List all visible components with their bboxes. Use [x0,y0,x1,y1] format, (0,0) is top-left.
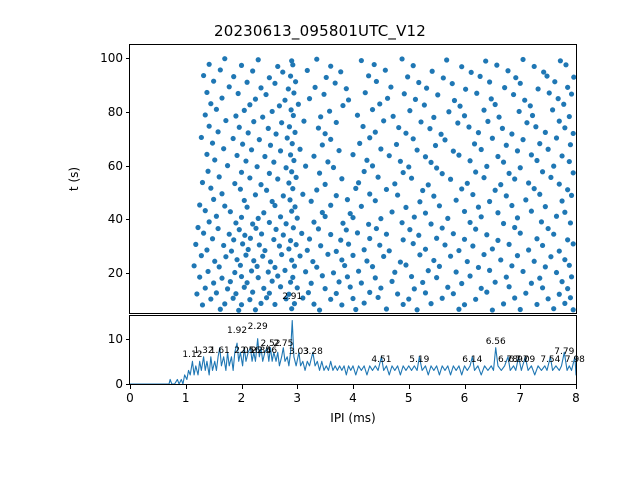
scatter-point [291,158,296,163]
scatter-point [385,96,390,101]
scatter-point [370,107,375,112]
scatter-point [367,191,372,196]
scatter-point [239,274,244,279]
scatter-point [509,131,514,136]
scatter-point [562,210,567,215]
peak-annotation-label: 5.19 [409,355,429,365]
scatter-point [324,75,329,80]
scatter-point [339,176,344,181]
scatter-point [423,247,428,252]
scatter-point [557,248,562,253]
scatter-point [571,131,576,136]
scatter-point [239,170,244,175]
scatter-point [364,158,369,163]
scatter-point [215,226,220,231]
scatter-point [359,58,364,63]
x-tick-label: 4 [349,391,357,405]
scatter-point [484,290,489,295]
scatter-point [433,143,438,148]
scatter-point [440,296,445,301]
scatter-point [207,62,212,67]
scatter-point [289,258,294,263]
scatter-point [243,253,248,258]
scatter-point [261,286,266,291]
scatter-point [550,107,555,112]
scatter-point [262,248,267,253]
scatter-point [422,102,427,107]
scatter-point [348,284,353,289]
scatter-point [356,269,361,274]
scatter-point [459,64,464,69]
scatter-point [366,222,371,227]
scatter-point [557,292,562,297]
scatter-point [411,63,416,68]
scatter-point [373,198,378,203]
scatter-point [247,102,252,107]
scatter-point [222,301,227,306]
scatter-point [260,254,265,259]
scatter-point [487,79,492,84]
scatter-point [204,90,209,95]
scatter-point [279,120,284,125]
x-tick-label: 8 [572,391,580,405]
scatter-point [539,219,544,224]
scatter-point [328,297,333,302]
scatter-point [279,252,284,257]
scatter-point [200,302,205,307]
x-tick-label: 2 [238,391,246,405]
scatter-point [237,125,242,130]
scatter-point [207,124,212,129]
scatter-point [219,276,224,281]
scatter-point [473,227,478,232]
scatter-point [309,281,314,286]
scatter-point [392,270,397,275]
scatter-point [211,79,216,84]
scatter-plot-area [130,45,576,313]
scatter-point [401,237,406,242]
scatter-point [320,210,325,215]
x-tick-label: 6 [461,391,469,405]
scatter-point [238,263,243,268]
scatter-point [275,176,280,181]
scatter-point [431,115,436,120]
scatter-point [389,279,394,284]
scatter-point [233,291,238,296]
scatter-point [534,302,539,307]
scatter-point [288,238,293,243]
scatter-point [239,302,244,307]
scatter-point [548,254,553,259]
scatter-point [540,285,545,290]
scatter-point [483,58,488,63]
scatter-point [423,210,428,215]
scatter-point [567,159,572,164]
scatter-point [402,91,407,96]
scatter-point [346,242,351,247]
scatter-point [232,270,237,275]
scatter-point [445,216,450,221]
scatter-point [211,197,216,202]
scatter-point [257,242,262,247]
scatter-point [201,73,206,78]
scatter-point [451,231,456,236]
scatter-point [236,308,241,313]
scatter-point [451,291,456,296]
scatter-point [331,270,336,275]
scatter-point [344,227,349,232]
scatter-point [537,276,542,281]
scatter-point [466,124,471,129]
scatter-point [219,95,224,100]
scatter-point [214,107,219,112]
y-tick-mark [126,219,130,220]
scatter-point [272,81,277,86]
scatter-point [444,57,449,62]
scatter-point [253,226,258,231]
scatter-point [571,307,576,312]
scatter-point [407,227,412,232]
scatter-point [517,109,522,114]
scatter-point [377,101,382,106]
scatter-point [355,230,360,235]
scatter-point [437,203,442,208]
scatter-point [479,286,484,291]
scatter-point [219,191,224,196]
scatter-point [409,274,414,279]
scatter-point [440,171,445,176]
hist-y-tick-mark [126,339,130,340]
scatter-point [272,265,277,270]
scatter-point [320,142,325,147]
scatter-point [401,302,406,307]
scatter-point [250,290,255,295]
scatter-point [289,169,294,174]
scatter-point [467,158,472,163]
scatter-point [292,204,297,209]
scatter-point [387,153,392,158]
peak-annotation-label: 4.51 [371,355,391,365]
scatter-point [569,193,574,198]
scatter-point [272,302,277,307]
scatter-point [518,307,523,312]
x-tick-mark [576,385,577,389]
y-tick-mark [126,58,130,59]
scatter-point [530,113,535,118]
scatter-point [217,264,222,269]
scatter-point [398,159,403,164]
scatter-point [396,125,401,130]
scatter-point [346,97,351,102]
scatter-point [350,296,355,301]
scatter-point [415,307,420,312]
scatter-point [260,114,265,119]
scatter-point [459,281,464,286]
scatter-point [203,285,208,290]
scatter-point [294,242,299,247]
scatter-point [398,259,403,264]
scatter-point [263,92,268,97]
scatter-point [253,97,258,102]
scatter-point [552,79,557,84]
scatter-point [501,301,506,306]
scatter-point [195,225,200,230]
scatter-point [526,247,531,252]
scatter-point [485,119,490,124]
scatter-point [270,279,275,284]
scatter-point [317,171,322,176]
scatter-point [462,209,467,214]
x-tick-label: 1 [182,391,190,405]
peak-annotation-label: 3.28 [303,347,323,357]
scatter-point [413,97,418,102]
scatter-point [434,236,439,241]
scatter-point [364,258,369,263]
scatter-point [378,146,383,151]
scatter-point [242,108,247,113]
scatter-point [434,165,439,170]
scatter-point [557,181,562,186]
scatter-point [258,301,263,306]
y-tick-label: 100 [83,51,123,65]
scatter-point [481,252,486,257]
scatter-point [500,126,505,131]
scatter-point [481,108,486,113]
scatter-point [345,274,350,279]
scatter-point [316,125,321,130]
scatter-point [418,119,423,124]
scatter-point [360,124,365,129]
y-axis-label: t (s) [67,167,81,191]
scatter-point [303,269,308,274]
scatter-point [328,203,333,208]
scatter-point [268,259,273,264]
scatter-point [394,142,399,147]
scatter-point [362,247,367,252]
hist-y-tick-label: 0 [83,377,123,391]
scatter-point [236,91,241,96]
scatter-point [306,290,311,295]
x-tick-mark [353,385,354,389]
scatter-point [412,286,417,291]
scatter-point [502,85,507,90]
scatter-point [532,259,537,264]
scatter-point [470,192,475,197]
peak-annotation-label: 6.56 [486,337,506,347]
scatter-point [416,80,421,85]
scatter-point [208,186,213,191]
scatter-point [520,269,525,274]
scatter-point [327,109,332,114]
peak-annotation-label: 2.91 [282,292,302,302]
scatter-point [314,265,319,270]
scatter-point [280,69,285,74]
scatter-point [541,69,546,74]
scatter-point [250,221,255,226]
scatter-point [284,221,289,226]
scatter-point [504,274,509,279]
scatter-point [520,57,525,62]
x-tick-mark [242,385,243,389]
scatter-point [237,227,242,232]
hist-y-tick-mark [126,384,130,385]
scatter-point [534,236,539,241]
scatter-point [353,307,358,312]
scatter-point [417,199,422,204]
x-tick-mark [409,385,410,389]
scatter-point [515,148,520,153]
scatter-point [259,231,264,236]
scatter-point [255,264,260,269]
scatter-point [289,107,294,112]
scatter-point [523,291,528,296]
peak-annotation-label: 7.09 [515,355,535,365]
y-tick-mark [126,112,130,113]
scatter-point [203,208,208,213]
scatter-point [479,147,484,152]
scatter-point [270,109,275,114]
scatter-point [247,175,252,180]
scatter-point [278,214,283,219]
scatter-point [565,286,570,291]
scatter-point [440,225,445,230]
peak-annotation-label: 1.92 [227,326,247,336]
scatter-point [511,92,516,97]
scatter-point [456,307,461,312]
scatter-point [529,281,534,286]
scatter-point [286,86,291,91]
scatter-point [231,296,236,301]
scatter-point [247,297,252,302]
scatter-point [498,257,503,262]
scatter-point [490,246,495,251]
scatter-point [205,169,210,174]
scatter-point [567,114,572,119]
scatter-point [568,295,573,300]
scatter-point [561,102,566,107]
scatter-point [275,273,280,278]
scatter-point [328,64,333,69]
scatter-point [454,198,459,203]
scatter-point [291,225,296,230]
scatter-point [278,148,283,153]
scatter-point [493,102,498,107]
matplotlib-figure: 20230613_095801UTC_V12 20406080100 t (s)… [0,0,640,480]
scatter-point [387,248,392,253]
scatter-point [378,216,383,221]
scatter-point [261,210,266,215]
scatter-point [221,146,226,151]
scatter-point [374,226,379,231]
scatter-point [565,85,570,90]
scatter-point [367,236,372,241]
scatter-point [551,306,556,311]
scatter-point [388,84,393,89]
scatter-point [375,295,380,300]
scatter-point [284,165,289,170]
scatter-point [286,246,291,251]
scatter-point [456,153,461,158]
scatter-point [362,300,367,305]
scatter-point [311,220,316,225]
chart-title: 20230613_095801UTC_V12 [0,22,640,40]
scatter-plot-axes [129,44,577,314]
scatter-point [375,175,380,180]
scatter-point [373,130,378,135]
scatter-point [442,137,447,142]
scatter-point [515,253,520,258]
scatter-point [417,252,422,257]
scatter-point [258,182,263,187]
scatter-point [350,152,355,157]
scatter-point [242,198,247,203]
scatter-point [426,182,431,187]
scatter-point [218,307,223,312]
scatter-point [448,177,453,182]
scatter-point [513,75,518,80]
scatter-point [303,164,308,169]
scatter-point [540,243,545,248]
scatter-point [290,141,295,146]
scatter-point [197,274,202,279]
x-tick-label: 5 [405,391,413,405]
scatter-point [381,254,386,259]
scatter-point [273,131,278,136]
scatter-point [210,236,215,241]
y-tick-label: 80 [83,105,123,119]
scatter-point [548,175,553,180]
scatter-point [218,67,223,72]
scatter-point [267,75,272,80]
scatter-point [242,233,247,238]
scatter-point [233,113,238,118]
scatter-point [331,165,336,170]
scatter-point [359,204,364,209]
scatter-point [399,56,404,61]
scatter-point [340,103,345,108]
scatter-point [338,238,343,243]
scatter-point [448,254,453,259]
scatter-point [357,141,362,146]
scatter-point [249,268,254,273]
scatter-point [478,74,483,79]
scatter-point [251,119,256,124]
scatter-point [559,279,564,284]
x-tick-label: 7 [516,391,524,405]
scatter-point [496,114,501,119]
scatter-point [234,153,239,158]
scatter-point [533,124,538,129]
scatter-point [355,113,360,118]
scatter-point [367,290,372,295]
scatter-point [334,249,339,254]
scatter-point [317,307,322,312]
scatter-point [314,57,319,62]
peak-annotation-label: 7.98 [565,355,585,365]
scatter-point [411,136,416,141]
scatter-point [244,205,249,210]
scatter-point [359,280,364,285]
scatter-point [295,216,300,221]
scatter-point [267,171,272,176]
scatter-point [484,232,489,237]
y-tick-label: 40 [83,212,123,226]
scatter-point [197,202,202,207]
scatter-point [257,137,262,142]
scatter-point [307,96,312,101]
scatter-point [565,237,570,242]
scatter-point [450,81,455,86]
